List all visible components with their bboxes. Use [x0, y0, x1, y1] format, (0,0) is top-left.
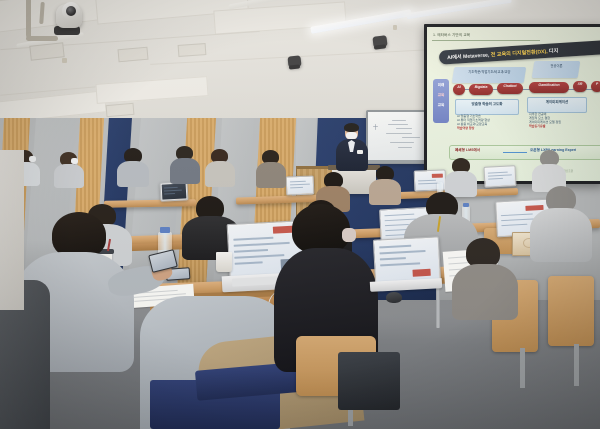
whiteboard-writing: [398, 147, 412, 148]
laptop-screen[interactable]: [286, 176, 315, 196]
whiteboard-tray: [366, 160, 432, 163]
slide-sub-box-label: 게이미피케이션: [528, 101, 586, 105]
slide-tech-pill-label: AI: [453, 86, 465, 90]
attendee-body: [54, 164, 84, 188]
slide-flow-box-label: 전공이론: [533, 65, 579, 68]
foreground-edge-shadow: [0, 150, 24, 310]
ceiling-vent: [178, 43, 207, 57]
slide-bullet: 학습역량 향상: [457, 127, 490, 131]
slide-tech-pill-label: Gamification: [529, 84, 569, 88]
ceiling-vent: [117, 47, 148, 63]
slide-bullet: 학습동기유발: [529, 125, 561, 129]
ceiling-sensor: [393, 25, 397, 30]
camera-lens-icon: [66, 6, 76, 16]
slide-tech-pill-label: Chatbot: [497, 85, 523, 89]
chair-backrest[interactable]: [548, 276, 594, 346]
face-mask: [71, 158, 78, 164]
slide-content: 1. 메타버스 기반의 교육 AI에서 Metaverse, 전 교육의 디지털…: [427, 27, 600, 181]
slide-header: 1. 메타버스 기반의 교육: [433, 33, 470, 38]
ceiling-sensor: [62, 58, 67, 63]
whiteboard-writing: [390, 142, 414, 143]
desk-leg: [436, 284, 440, 328]
attendee-body: [117, 161, 149, 187]
whiteboard-writing: [402, 137, 420, 138]
slide-tech-pill: Chatbot: [497, 83, 523, 94]
laptop-display: [162, 183, 187, 199]
whiteboard-writing: [386, 133, 412, 134]
paper-cup: [216, 252, 232, 272]
bottle-cap: [463, 203, 469, 207]
slide-flow-box: 기초학문/직업기초/비교과/교양: [452, 67, 527, 83]
slide-left-label: 미래 교육 교육: [433, 79, 449, 123]
slide-tech-pill: AI: [453, 84, 465, 95]
ceiling-vent: [106, 103, 135, 117]
camera-mount-arm: [26, 36, 58, 41]
laptop-display: [375, 238, 439, 283]
face-mask: [342, 228, 356, 242]
projection-screen: 1. 메타버스 기반의 교육 AI에서 Metaverse, 전 교육의 디지털…: [424, 24, 600, 184]
chair-leg: [574, 344, 579, 386]
backpack: [338, 352, 400, 410]
attendee-head: [292, 204, 350, 254]
slide-title-highlight: 전 교육의 디지털전환(DX),: [491, 49, 548, 59]
presenter-hair: [344, 123, 359, 132]
presenter-mask: [346, 132, 357, 139]
slide-tech-pill: P: [591, 81, 600, 92]
slide-tech-pill: Gamification: [529, 82, 569, 93]
slide-left-label-mid: 교육: [433, 93, 449, 98]
lecture-room-photo: 1. 메타버스 기반의 교육 AI에서 Metaverse, 전 교육의 디지털…: [0, 0, 600, 429]
laptop-screen[interactable]: [483, 165, 516, 188]
whiteboard-writing: [392, 120, 406, 121]
laptop-display: [486, 167, 515, 185]
slide-left-label-bottom: 교육: [433, 103, 449, 108]
attendee-body: [369, 179, 401, 205]
door-top-trim: [296, 166, 332, 169]
slide-title-suffix: 디지: [547, 48, 558, 55]
slide-bullets-right: 지루한 전공에 게임적 요소 결합 게이미피케이션 모델 정립 학습동기유발: [529, 113, 561, 129]
slide-bottom-left: 폐쇄형 LMS에서: [455, 148, 480, 153]
slide-bullets-left: AI 맞춤형 기초학습 AI 튜터 직업기초역량 향상 AI 활용 비교과/교양…: [457, 115, 490, 131]
slide-tech-pill-label: P: [591, 83, 600, 87]
slide-tech-pill: Bigdata: [469, 84, 493, 95]
attendee-body: [205, 161, 235, 187]
attendee-body: [170, 158, 200, 184]
slide-tech-pill: XR: [573, 81, 587, 92]
slide-sub-box: 게이미피케이션: [527, 97, 587, 113]
attendee-body: [530, 208, 592, 262]
slide-flow-box: 전공이론: [532, 61, 581, 78]
whiteboard-writing: [375, 124, 376, 130]
whiteboard-writing: [388, 124, 408, 125]
presenter-name-badge: [357, 150, 363, 154]
face-mask: [29, 156, 36, 162]
slide-header-rule: [432, 40, 540, 41]
slide-tech-pill-label: XR: [573, 83, 587, 87]
camera-mount-arm: [26, 0, 31, 40]
slide-left-label-top: 미래: [433, 83, 449, 88]
slide-sub-box-label: 맞춤형 학습의 고도화: [456, 103, 518, 107]
slide-flow-box-label: 기초학문/직업기초/비교과/교양: [453, 71, 525, 74]
computer-mouse[interactable]: [386, 292, 402, 303]
whiteboard-writing: [396, 128, 412, 129]
laptop-screen[interactable]: [160, 181, 189, 201]
chair-leg: [520, 348, 525, 388]
laptop-display: [288, 178, 313, 194]
bottle-cap: [160, 227, 170, 233]
slide-title-prefix: AI에서 Metaverse,: [447, 52, 491, 61]
slide-tech-pill-label: Bigdata: [469, 86, 493, 90]
slide-bottom-arrow-icon: [503, 152, 527, 153]
slide-sub-box: 맞춤형 학습의 고도화: [455, 99, 519, 115]
attendee-body: [256, 162, 286, 188]
attendee-head: [56, 214, 64, 222]
attendee-body: [452, 264, 518, 320]
